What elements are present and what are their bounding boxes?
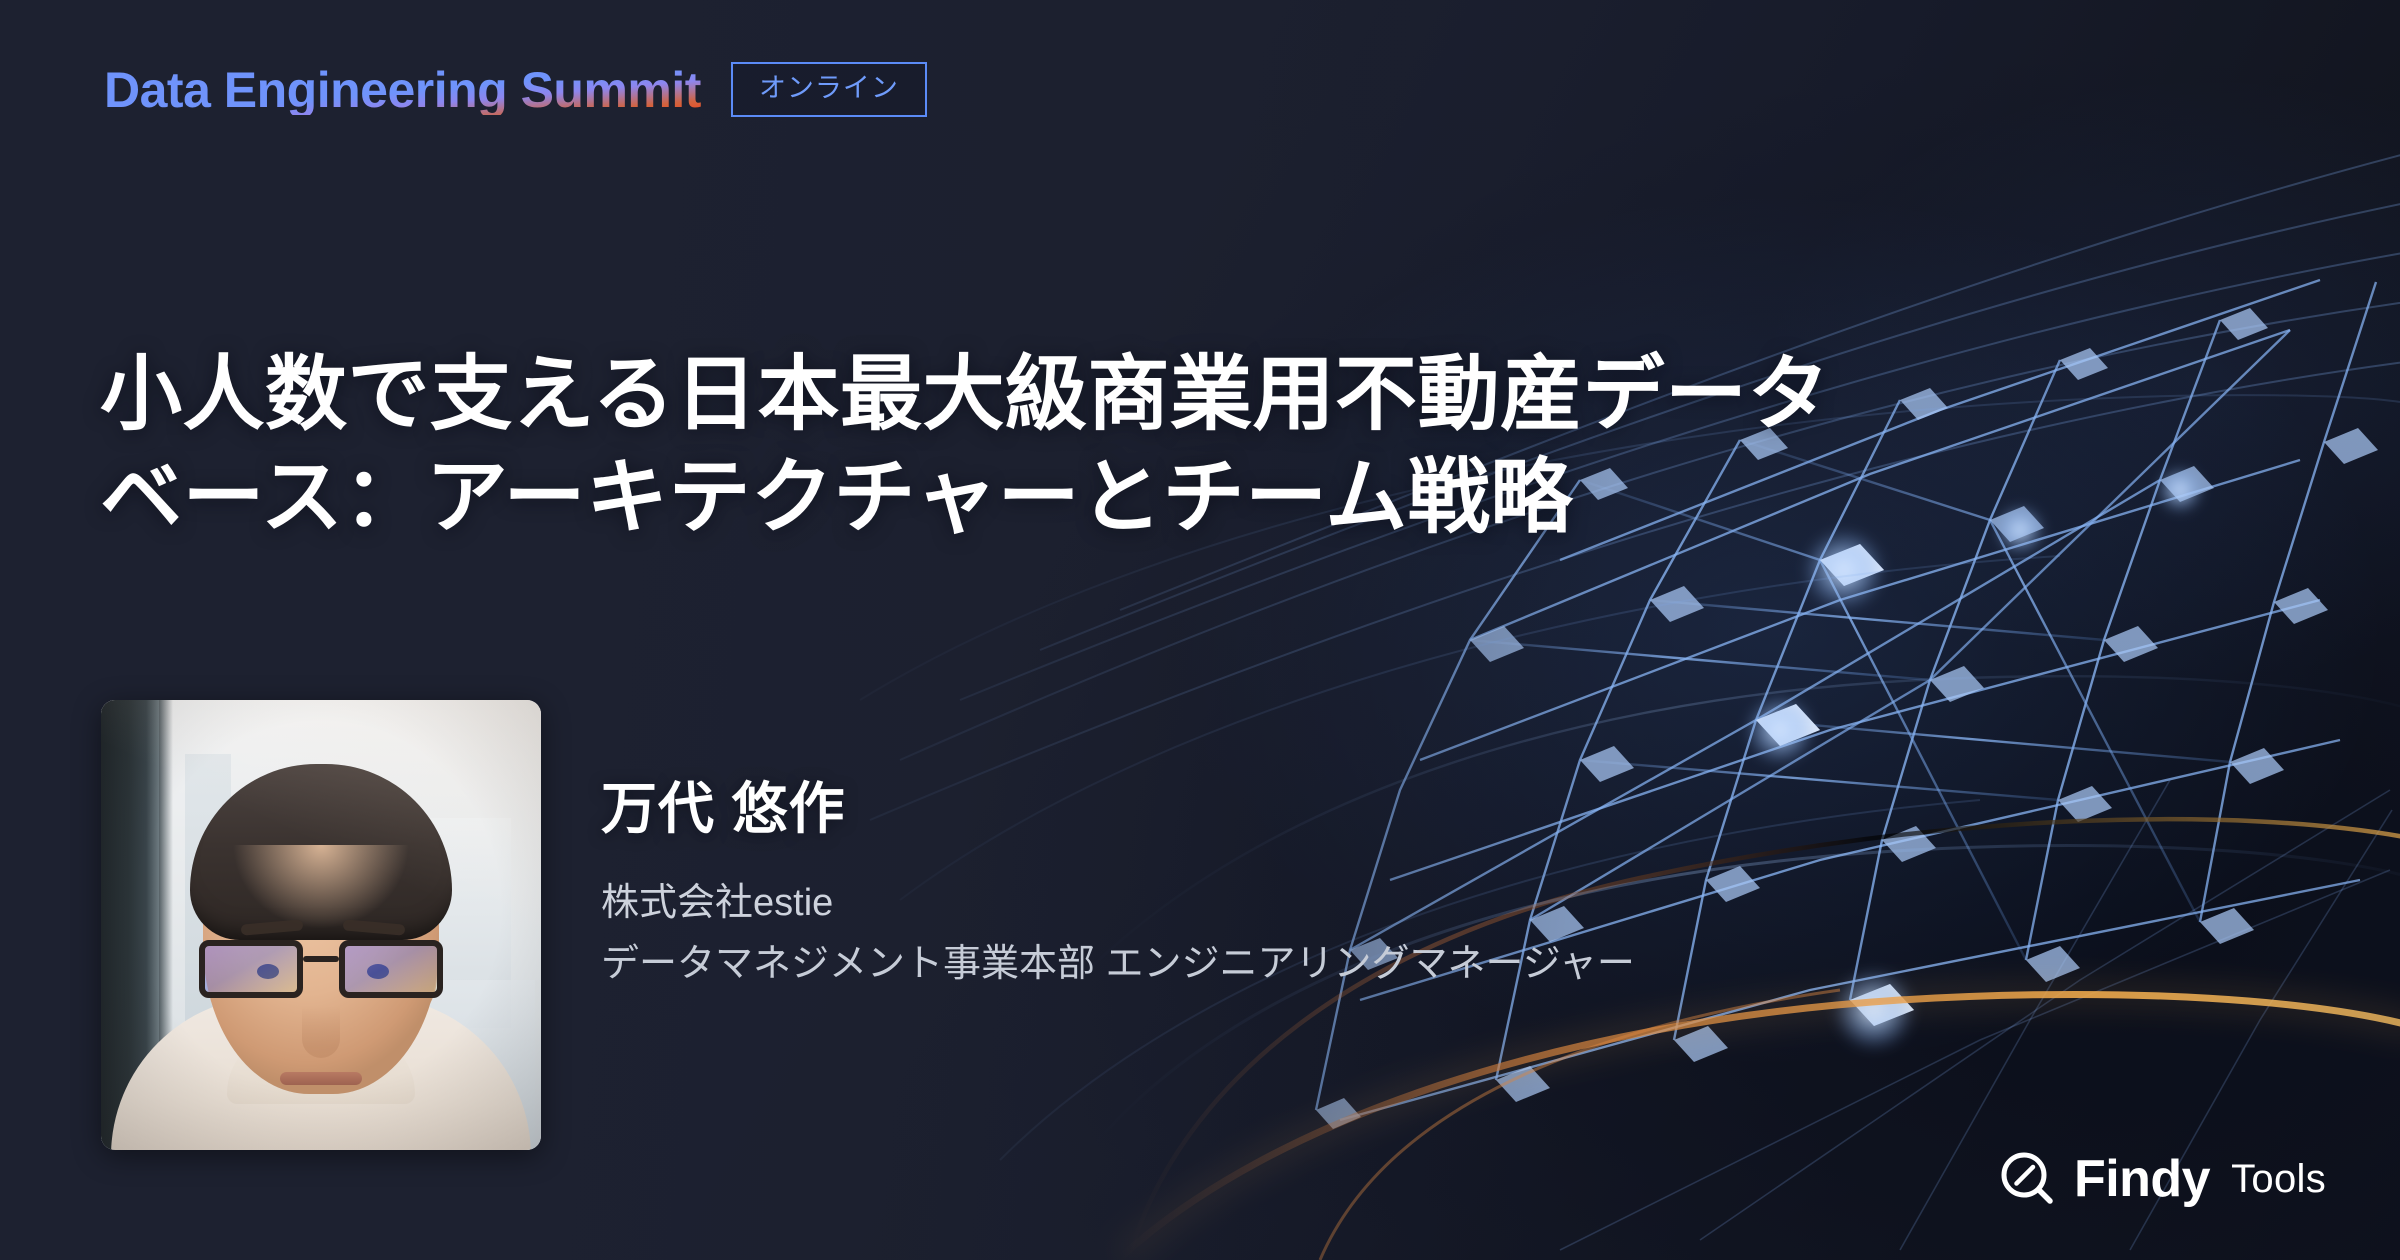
findy-magnifier-icon xyxy=(1999,1150,2057,1208)
speaker-name: 万代 悠作 xyxy=(601,778,1635,840)
session-title-line-1: 小人数で支える日本最大級商業用不動産データ xyxy=(100,343,2300,446)
findy-logo-primary: Findy xyxy=(2074,1153,2210,1205)
format-badge-online: オンライン xyxy=(731,62,927,117)
findy-logo-secondary: Tools xyxy=(2231,1159,2326,1199)
speaker-role: データマネジメント事業本部 エンジニアリングマネージャー xyxy=(601,941,1635,989)
session-title-line-2: ベース：アーキテクチャーとチーム戦略 xyxy=(100,446,2300,549)
session-card: Data Engineering Summit オンライン 小人数で支える日本最… xyxy=(0,0,2400,1260)
event-wordmark: Data Engineering Summit xyxy=(104,65,701,115)
node-glow xyxy=(1744,466,2204,1052)
findy-tools-logo: Findy Tools xyxy=(1999,1150,2326,1208)
speaker-avatar xyxy=(101,700,541,1150)
event-header: Data Engineering Summit オンライン xyxy=(104,62,927,117)
speaker-block: 万代 悠作 株式会社estie データマネジメント事業本部 エンジニアリングマネ… xyxy=(101,700,1635,1150)
speaker-details: 万代 悠作 株式会社estie データマネジメント事業本部 エンジニアリングマネ… xyxy=(601,700,1635,989)
avatar-photo-color-grade xyxy=(101,700,541,1150)
speaker-company: 株式会社estie xyxy=(601,880,1635,928)
session-title: 小人数で支える日本最大級商業用不動産データ ベース：アーキテクチャーとチーム戦略 xyxy=(100,343,2300,550)
